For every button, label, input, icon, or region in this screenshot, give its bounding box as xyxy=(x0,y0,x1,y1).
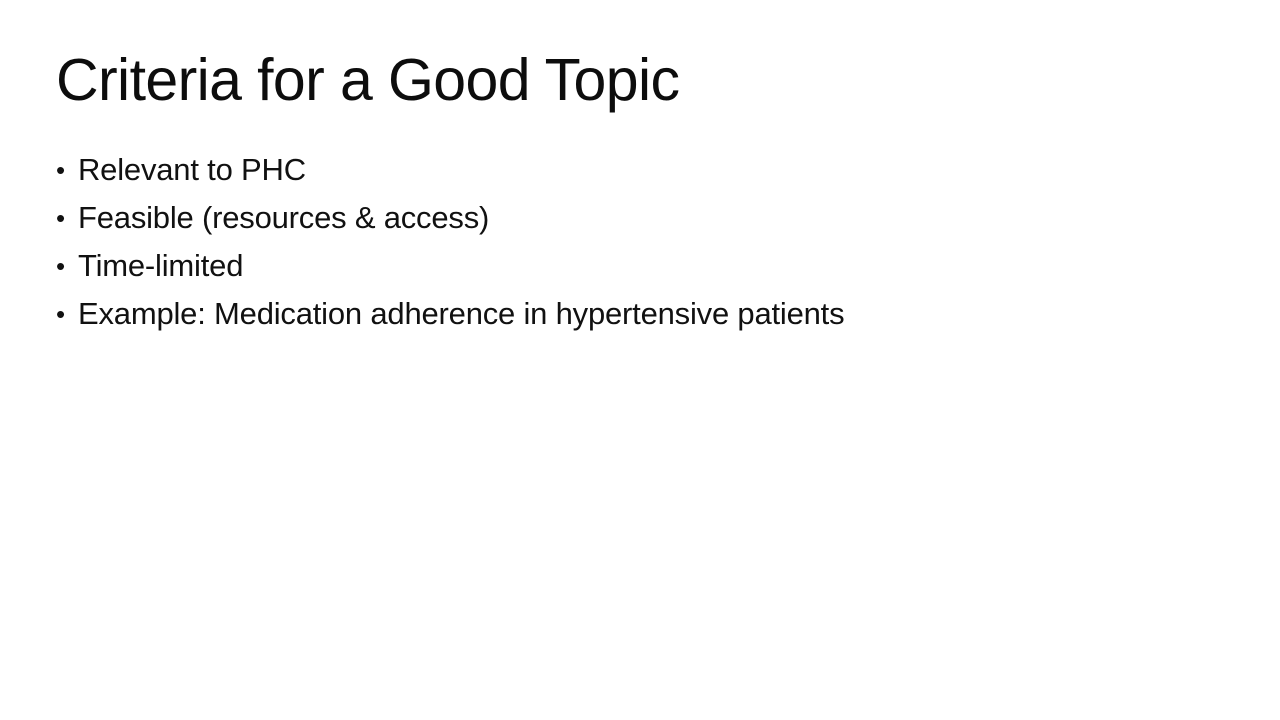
list-item: •Time-limited xyxy=(56,242,1226,290)
list-item-label: Relevant to PHC xyxy=(78,146,306,194)
bullet-point-icon: • xyxy=(56,194,78,242)
bullet-list: •Relevant to PHC •Feasible (resources & … xyxy=(56,146,1226,338)
bullet-point-icon: • xyxy=(56,242,78,290)
presentation-slide: Criteria for a Good Topic •Relevant to P… xyxy=(0,0,1280,720)
list-item: •Relevant to PHC xyxy=(56,146,1226,194)
list-item-label: Example: Medication adherence in hyperte… xyxy=(78,290,844,338)
bullet-point-icon: • xyxy=(56,290,78,338)
list-item: •Example: Medication adherence in hypert… xyxy=(56,290,1226,338)
bullet-point-icon: • xyxy=(56,146,78,194)
list-item-label: Feasible (resources & access) xyxy=(78,194,489,242)
list-item-label: Time-limited xyxy=(78,242,243,290)
list-item: •Feasible (resources & access) xyxy=(56,194,1226,242)
page-title: Criteria for a Good Topic xyxy=(56,50,1176,112)
